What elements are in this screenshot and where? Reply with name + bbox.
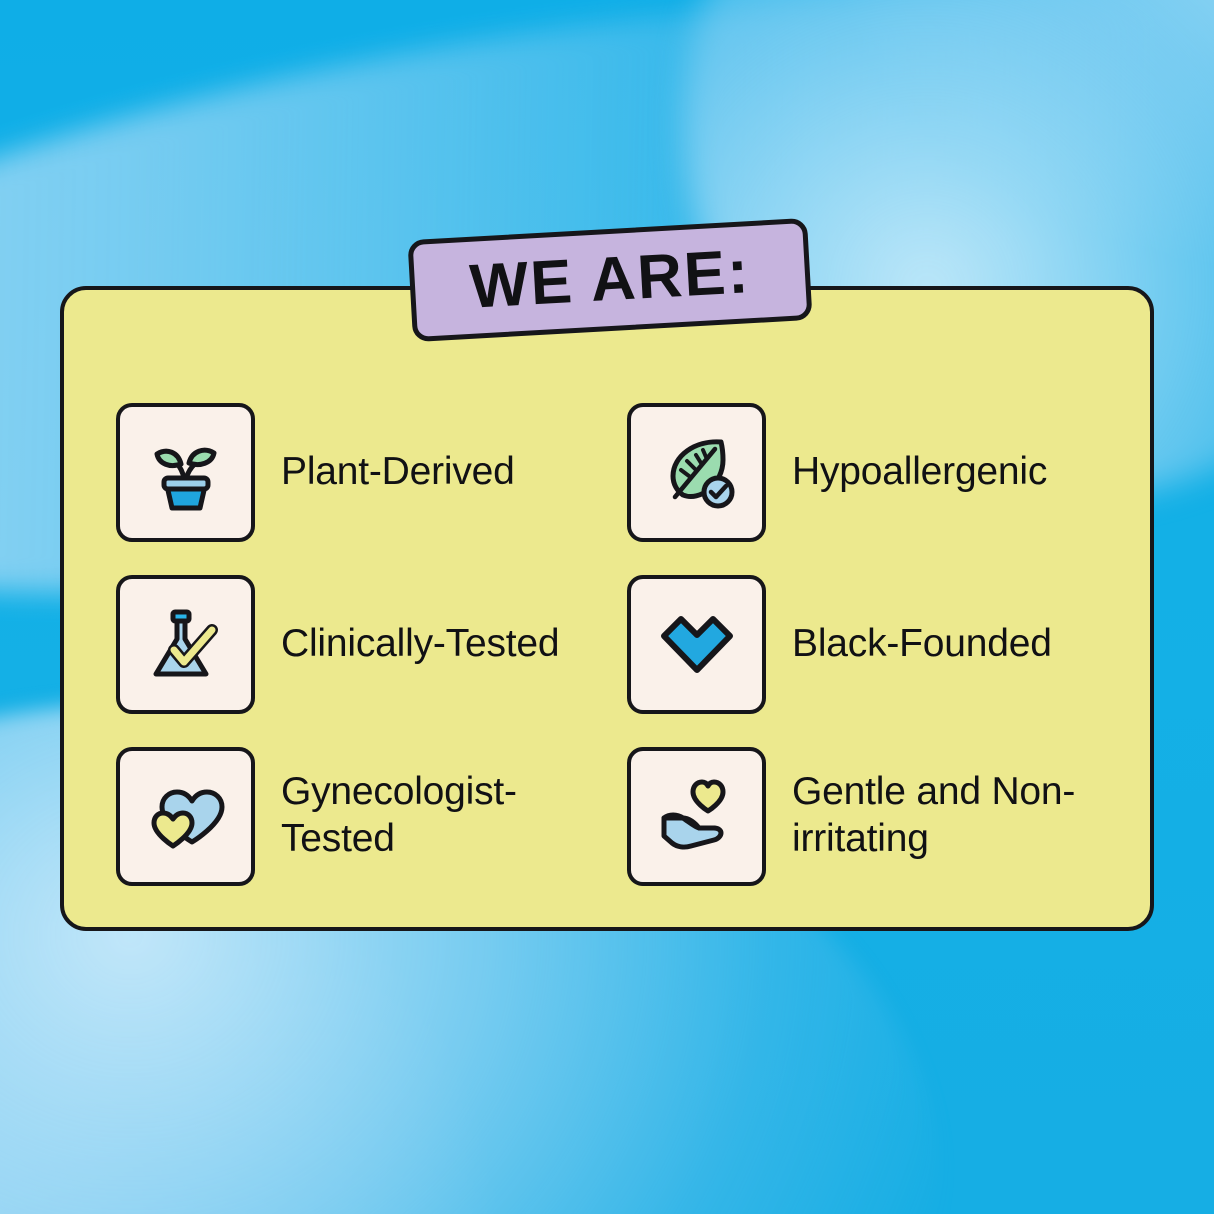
feature-label: Plant-Derived (281, 449, 515, 496)
feature-item: Gynecologist-Tested (116, 730, 595, 902)
feature-label: Hypoallergenic (792, 449, 1047, 496)
feature-item: Gentle and Non-irritating (627, 730, 1106, 902)
potted-plant-icon (116, 403, 255, 542)
feature-item: Hypoallergenic (627, 386, 1106, 558)
two-hearts-icon (116, 747, 255, 886)
features-card: Plant-Derived Hypoallergenic (60, 286, 1154, 931)
feature-item: Plant-Derived (116, 386, 595, 558)
feature-item: Black-Founded (627, 558, 1106, 730)
feature-label: Gynecologist-Tested (281, 769, 595, 863)
feature-label: Clinically-Tested (281, 621, 559, 668)
hand-heart-icon (627, 747, 766, 886)
feature-item: Clinically-Tested (116, 558, 595, 730)
flask-check-icon (116, 575, 255, 714)
promo-graphic: Plant-Derived Hypoallergenic (0, 0, 1214, 1214)
feature-label: Gentle and Non-irritating (792, 769, 1106, 863)
badge-title: WE ARE: (468, 241, 751, 319)
features-grid: Plant-Derived Hypoallergenic (116, 386, 1106, 902)
feature-label: Black-Founded (792, 621, 1052, 668)
leaf-check-icon (627, 403, 766, 542)
angular-heart-icon (627, 575, 766, 714)
